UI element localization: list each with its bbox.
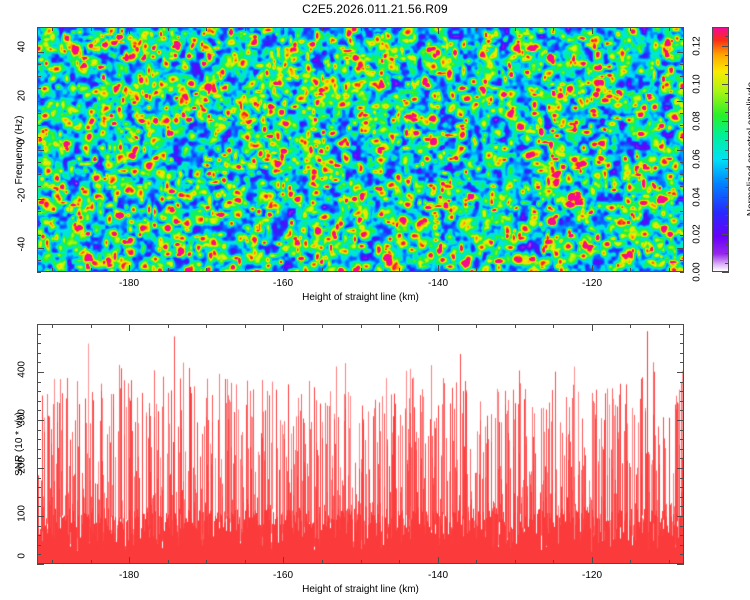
x-minor-tick <box>515 560 516 564</box>
y-tick-label: 0 <box>17 553 28 575</box>
x-minor-tick <box>52 27 53 31</box>
y-minor-tick <box>680 235 684 236</box>
x-major-tick <box>283 265 284 272</box>
y-minor-tick <box>37 334 41 335</box>
y-minor-tick <box>680 449 684 450</box>
x-tick-label: -160 <box>273 570 293 581</box>
x-minor-tick <box>399 560 400 564</box>
x-minor-tick <box>245 268 246 272</box>
y-minor-tick <box>37 506 41 507</box>
x-minor-tick <box>361 27 362 31</box>
x-minor-tick <box>322 560 323 564</box>
y-axis-title: SNR (10 * v/v) <box>14 412 25 476</box>
y-minor-tick <box>680 410 684 411</box>
y-minor-tick <box>680 458 684 459</box>
y-minor-tick <box>37 458 41 459</box>
y-major-tick <box>37 372 44 373</box>
colorbar-minor-tick <box>725 215 729 216</box>
y-minor-tick <box>680 526 684 527</box>
y-minor-tick <box>680 478 684 479</box>
y-minor-tick <box>37 362 41 363</box>
colorbar-major-tick <box>722 234 729 235</box>
y-minor-tick <box>680 260 684 261</box>
y-minor-tick <box>680 497 684 498</box>
x-minor-tick <box>630 268 631 272</box>
y-minor-tick <box>37 174 41 175</box>
y-minor-tick <box>680 76 684 77</box>
y-minor-tick <box>680 39 684 40</box>
snr-trace <box>38 325 683 563</box>
figure-title: C2E5.2026.011.21.56.R09 <box>0 2 750 16</box>
x-minor-tick <box>361 560 362 564</box>
x-tick-label: -180 <box>119 570 139 581</box>
y-minor-tick <box>680 223 684 224</box>
colorbar-minor-tick <box>725 36 729 37</box>
colorbar-minor-tick <box>725 55 729 56</box>
y-tick-label: 20 <box>17 90 28 112</box>
colorbar-major-tick <box>722 272 729 273</box>
x-tick-label: -120 <box>582 570 602 581</box>
y-tick-label: -20 <box>17 188 28 210</box>
y-minor-tick <box>37 554 41 555</box>
x-minor-tick <box>206 324 207 328</box>
figure-canvas: C2E5.2026.011.21.56.R09 -180-160-140-120… <box>0 0 750 600</box>
y-minor-tick <box>680 186 684 187</box>
y-minor-tick <box>37 535 41 536</box>
colorbar-minor-tick <box>725 112 729 113</box>
y-minor-tick <box>680 64 684 65</box>
y-major-tick <box>37 468 44 469</box>
colorbar-tick-label: 0.04 <box>692 184 703 210</box>
x-minor-tick <box>245 560 246 564</box>
y-minor-tick <box>37 487 41 488</box>
y-major-tick <box>677 420 684 421</box>
colorbar-major-tick <box>722 197 729 198</box>
y-minor-tick <box>680 554 684 555</box>
x-axis-title: Height of straight line (km) <box>302 292 419 303</box>
x-major-tick <box>129 324 130 331</box>
y-major-tick <box>677 516 684 517</box>
y-minor-tick <box>37 39 41 40</box>
y-minor-tick <box>37 260 41 261</box>
y-minor-tick <box>37 27 41 28</box>
colorbar-major-tick <box>722 84 729 85</box>
y-minor-tick <box>37 410 41 411</box>
y-major-tick <box>37 248 44 249</box>
y-major-tick <box>677 372 684 373</box>
colorbar-tick-label: 0.00 <box>692 259 703 285</box>
x-minor-tick <box>52 268 53 272</box>
y-minor-tick <box>680 382 684 383</box>
spectrogram-axes <box>37 27 684 272</box>
x-tick-label: -140 <box>428 570 448 581</box>
x-minor-tick <box>206 268 207 272</box>
x-minor-tick <box>91 27 92 31</box>
colorbar-minor-tick <box>725 93 729 94</box>
y-minor-tick <box>680 27 684 28</box>
colorbar-minor-tick <box>725 27 729 28</box>
y-minor-tick <box>680 362 684 363</box>
x-minor-tick <box>168 268 169 272</box>
y-tick-label: -40 <box>17 237 28 259</box>
y-minor-tick <box>680 506 684 507</box>
y-minor-tick <box>680 439 684 440</box>
x-major-tick <box>129 265 130 272</box>
x-minor-tick <box>322 27 323 31</box>
x-minor-tick <box>515 324 516 328</box>
x-minor-tick <box>669 324 670 328</box>
y-minor-tick <box>680 137 684 138</box>
x-axis-title: Height of straight line (km) <box>302 584 419 595</box>
x-minor-tick <box>476 268 477 272</box>
y-minor-tick <box>680 545 684 546</box>
y-minor-tick <box>680 162 684 163</box>
x-minor-tick <box>52 324 53 328</box>
x-major-tick <box>283 27 284 34</box>
x-minor-tick <box>553 324 554 328</box>
y-major-tick <box>677 248 684 249</box>
y-major-tick <box>37 420 44 421</box>
x-minor-tick <box>52 560 53 564</box>
y-minor-tick <box>680 391 684 392</box>
y-major-tick <box>677 52 684 53</box>
y-major-tick <box>37 150 44 151</box>
x-minor-tick <box>476 560 477 564</box>
y-minor-tick <box>680 88 684 89</box>
colorbar-minor-tick <box>725 65 729 66</box>
colorbar-minor-tick <box>725 244 729 245</box>
colorbar-minor-tick <box>725 263 729 264</box>
x-minor-tick <box>245 324 246 328</box>
y-minor-tick <box>37 162 41 163</box>
x-minor-tick <box>399 268 400 272</box>
y-minor-tick <box>37 526 41 527</box>
x-minor-tick <box>515 27 516 31</box>
colorbar-tick-label: 0.10 <box>692 71 703 97</box>
x-minor-tick <box>399 324 400 328</box>
y-minor-tick <box>37 391 41 392</box>
y-minor-tick <box>37 64 41 65</box>
y-major-tick <box>37 101 44 102</box>
x-minor-tick <box>553 560 554 564</box>
y-minor-tick <box>37 272 41 273</box>
x-minor-tick <box>361 268 362 272</box>
y-minor-tick <box>37 449 41 450</box>
snr-axes <box>37 324 684 564</box>
y-tick-label: 100 <box>17 505 28 527</box>
y-minor-tick <box>37 430 41 431</box>
y-minor-tick <box>680 125 684 126</box>
x-minor-tick <box>630 560 631 564</box>
y-minor-tick <box>37 235 41 236</box>
x-minor-tick <box>476 27 477 31</box>
y-minor-tick <box>680 487 684 488</box>
y-minor-tick <box>680 324 684 325</box>
colorbar-axis-title: Normalized spectral amplitude <box>746 82 750 217</box>
colorbar-minor-tick <box>725 168 729 169</box>
x-minor-tick <box>553 268 554 272</box>
x-minor-tick <box>91 560 92 564</box>
y-minor-tick <box>37 497 41 498</box>
x-minor-tick <box>669 27 670 31</box>
x-minor-tick <box>322 324 323 328</box>
x-major-tick <box>592 27 593 34</box>
colorbar-minor-tick <box>725 225 729 226</box>
y-minor-tick <box>680 401 684 402</box>
y-minor-tick <box>37 113 41 114</box>
x-minor-tick <box>245 27 246 31</box>
x-major-tick <box>129 27 130 34</box>
x-major-tick <box>438 557 439 564</box>
x-minor-tick <box>669 268 670 272</box>
colorbar-major-tick <box>722 121 729 122</box>
x-tick-label: -160 <box>273 278 293 289</box>
colorbar-minor-tick <box>725 150 729 151</box>
y-major-tick <box>677 564 684 565</box>
y-minor-tick <box>680 113 684 114</box>
colorbar-minor-tick <box>725 178 729 179</box>
x-major-tick <box>592 324 593 331</box>
y-minor-tick <box>37 343 41 344</box>
y-minor-tick <box>37 88 41 89</box>
y-tick-label: 40 <box>17 41 28 63</box>
y-minor-tick <box>37 382 41 383</box>
y-minor-tick <box>37 211 41 212</box>
x-minor-tick <box>322 268 323 272</box>
colorbar-minor-tick <box>725 102 729 103</box>
colorbar-tick-label: 0.06 <box>692 146 703 172</box>
y-major-tick <box>37 564 44 565</box>
y-major-tick <box>677 468 684 469</box>
y-minor-tick <box>680 343 684 344</box>
colorbar-minor-tick <box>725 253 729 254</box>
y-minor-tick <box>37 125 41 126</box>
x-minor-tick <box>91 268 92 272</box>
x-minor-tick <box>669 560 670 564</box>
x-minor-tick <box>553 27 554 31</box>
x-major-tick <box>283 557 284 564</box>
x-tick-label: -120 <box>582 278 602 289</box>
y-major-tick <box>37 52 44 53</box>
y-minor-tick <box>680 430 684 431</box>
x-major-tick <box>592 557 593 564</box>
y-major-tick <box>677 199 684 200</box>
y-minor-tick <box>37 223 41 224</box>
y-minor-tick <box>37 401 41 402</box>
colorbar-tick-label: 0.02 <box>692 221 703 247</box>
x-minor-tick <box>630 324 631 328</box>
y-axis-title: Frequency (Hz) <box>14 115 25 184</box>
colorbar-major-tick <box>722 159 729 160</box>
y-tick-label: 400 <box>17 361 28 383</box>
x-major-tick <box>592 265 593 272</box>
x-major-tick <box>129 557 130 564</box>
y-minor-tick <box>37 353 41 354</box>
x-minor-tick <box>206 27 207 31</box>
x-minor-tick <box>361 324 362 328</box>
colorbar-tick-label: 0.08 <box>692 108 703 134</box>
y-minor-tick <box>680 211 684 212</box>
y-minor-tick <box>37 545 41 546</box>
y-minor-tick <box>680 174 684 175</box>
colorbar-minor-tick <box>725 187 729 188</box>
y-major-tick <box>677 101 684 102</box>
x-minor-tick <box>206 560 207 564</box>
colorbar-minor-tick <box>725 74 729 75</box>
y-major-tick <box>37 199 44 200</box>
y-minor-tick <box>37 439 41 440</box>
x-minor-tick <box>168 324 169 328</box>
x-minor-tick <box>168 27 169 31</box>
colorbar-major-tick <box>722 46 729 47</box>
colorbar-minor-tick <box>725 131 729 132</box>
y-minor-tick <box>37 76 41 77</box>
x-minor-tick <box>630 27 631 31</box>
y-minor-tick <box>37 137 41 138</box>
y-minor-tick <box>37 186 41 187</box>
y-major-tick <box>677 150 684 151</box>
y-minor-tick <box>680 334 684 335</box>
x-major-tick <box>283 324 284 331</box>
y-minor-tick <box>680 353 684 354</box>
y-major-tick <box>37 516 44 517</box>
colorbar-minor-tick <box>725 206 729 207</box>
colorbar-tick-label: 0.12 <box>692 33 703 59</box>
x-minor-tick <box>476 324 477 328</box>
x-tick-label: -180 <box>119 278 139 289</box>
y-minor-tick <box>37 478 41 479</box>
x-major-tick <box>438 27 439 34</box>
y-minor-tick <box>37 324 41 325</box>
colorbar-minor-tick <box>725 140 729 141</box>
x-major-tick <box>438 324 439 331</box>
y-minor-tick <box>680 272 684 273</box>
spectrogram-image <box>38 28 683 271</box>
x-minor-tick <box>399 27 400 31</box>
x-major-tick <box>438 265 439 272</box>
x-tick-label: -140 <box>428 278 448 289</box>
x-minor-tick <box>91 324 92 328</box>
y-minor-tick <box>680 535 684 536</box>
x-minor-tick <box>168 560 169 564</box>
x-minor-tick <box>515 268 516 272</box>
